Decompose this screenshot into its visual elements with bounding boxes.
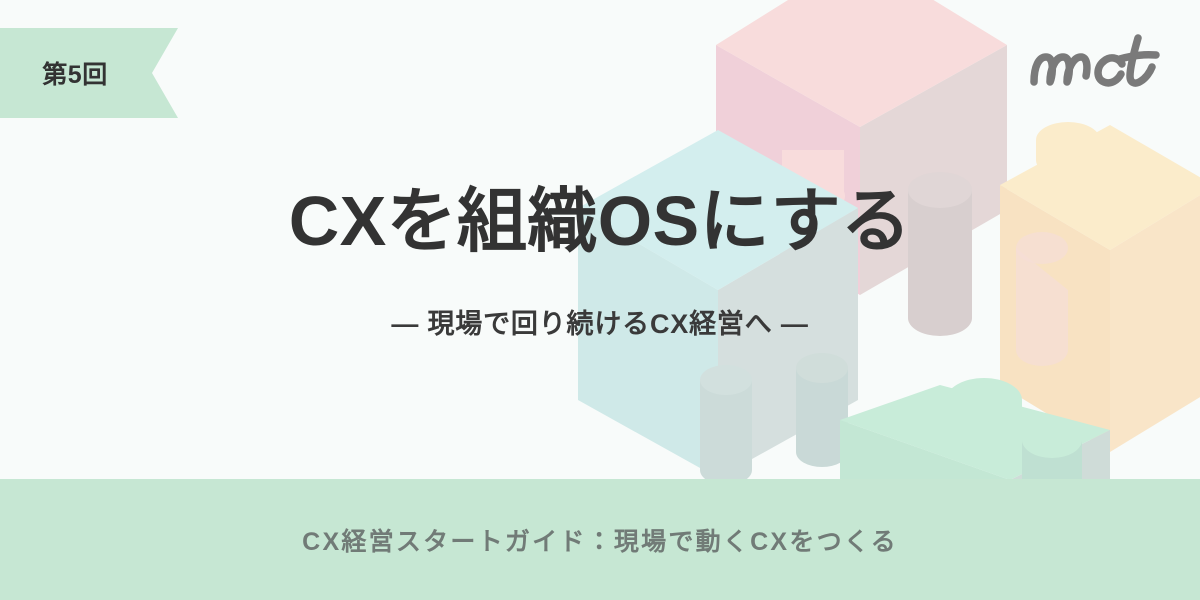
slide-canvas: 第5回 CXを組織OSにする — 現場で回り続けるCX経営へ — CX経営スター…: [0, 0, 1200, 600]
page-title: CXを組織OSにする: [0, 186, 1200, 256]
episode-ribbon: 第5回: [0, 28, 180, 118]
bottom-band: CX経営スタートガイド：現場で動くCXをつくる: [0, 479, 1200, 600]
headline-block: CXを組織OSにする — 現場で回り続けるCX経営へ —: [0, 186, 1200, 341]
mct-script-logo-icon: [1026, 26, 1166, 98]
series-caption: CX経営スタートガイド：現場で動くCXをつくる: [302, 522, 898, 558]
page-subtitle: — 現場で回り続けるCX経営へ —: [0, 256, 1200, 341]
episode-number-label: 第5回: [0, 28, 150, 118]
mct-logo: [1026, 26, 1166, 98]
